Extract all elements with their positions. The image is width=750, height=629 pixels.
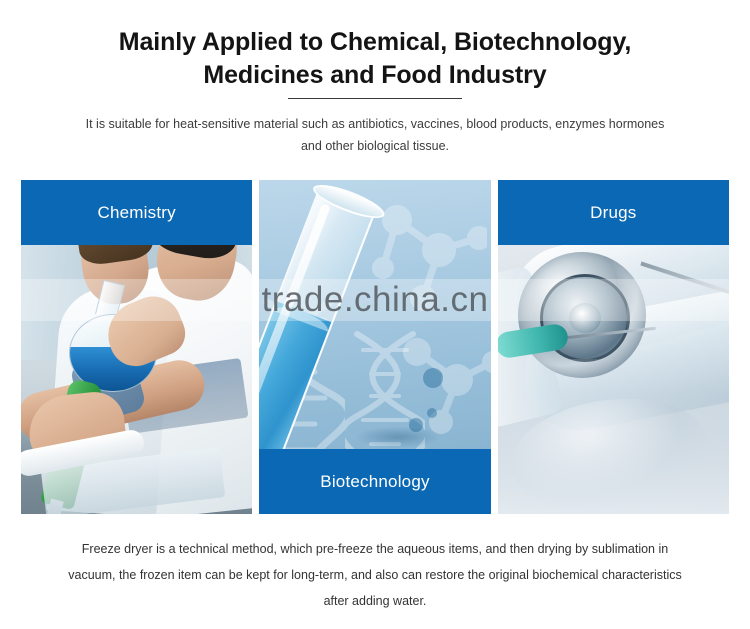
panel-biotechnology[interactable]: Biotechnology [259,180,490,514]
page-title: Mainly Applied to Chemical, Biotechnolog… [0,26,750,92]
vial-metal-cap [518,252,646,378]
test-tube-shadow [355,426,441,448]
page-header: Mainly Applied to Chemical, Biotechnolog… [0,0,750,157]
application-panels: Chemistry [21,180,729,514]
vial-cap-center [569,303,601,333]
panel-label-chemistry: Chemistry [21,180,252,245]
photo-bottom-haze [498,394,729,514]
panel-label-chemistry-text: Chemistry [98,203,176,223]
footer-description: Freeze dryer is a technical method, whic… [60,536,690,614]
panel-label-biotechnology: Biotechnology [259,449,490,514]
panel-label-drugs: Drugs [498,180,729,245]
title-underline-rule [288,98,462,99]
panel-label-drugs-text: Drugs [590,203,636,223]
page-subtitle: It is suitable for heat-sensitive materi… [85,113,665,157]
panel-label-biotechnology-text: Biotechnology [320,472,429,492]
panel-drugs[interactable]: Drugs [498,180,729,514]
panel-chemistry[interactable]: Chemistry [21,180,252,514]
